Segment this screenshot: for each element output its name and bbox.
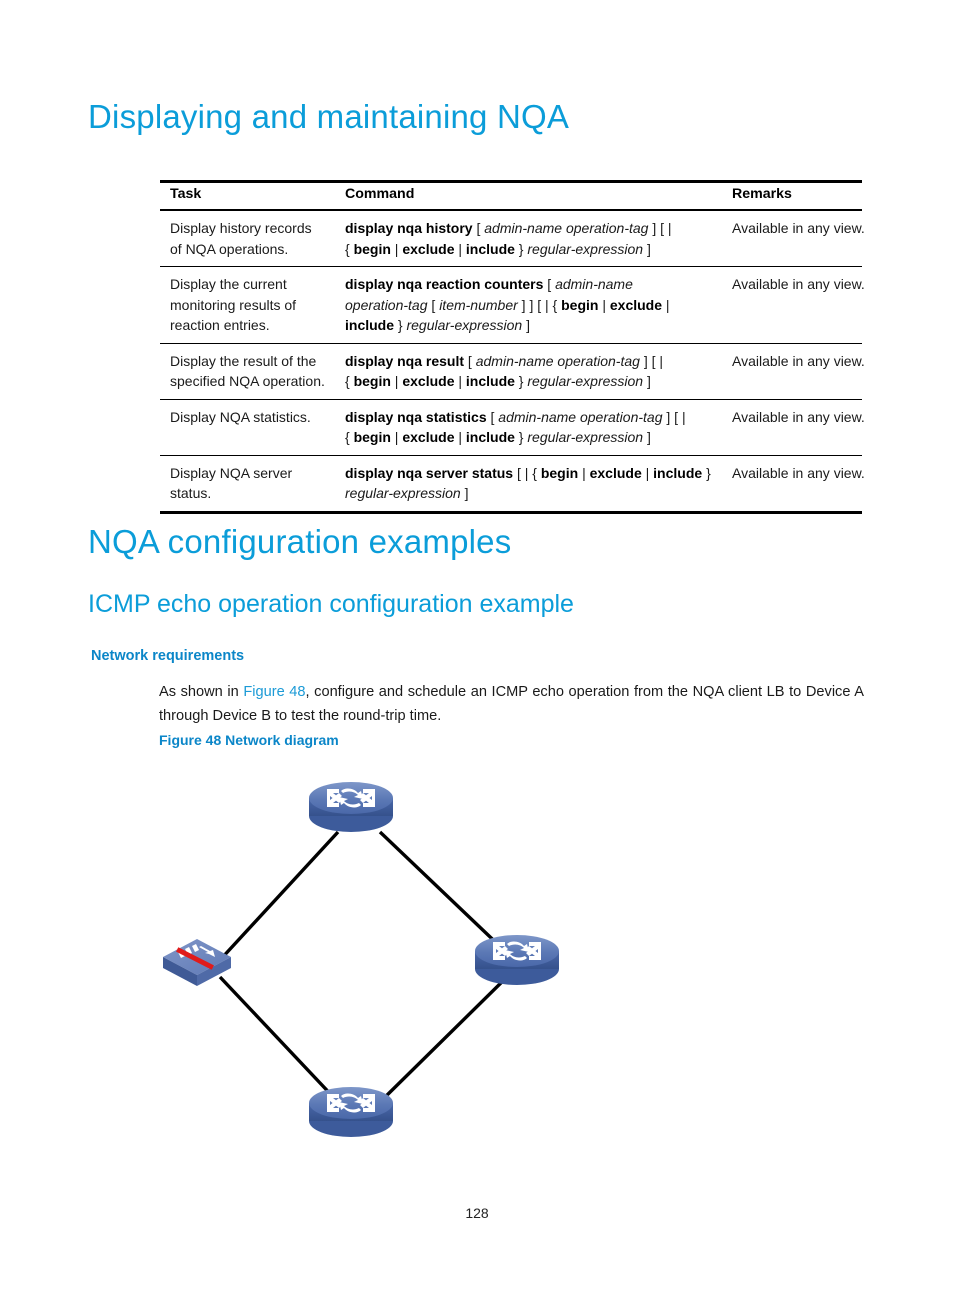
page-number: 128: [0, 1205, 954, 1221]
cell-task: Display NQA server status.: [160, 455, 335, 512]
cell-command: display nqa result [ admin-name operatio…: [335, 343, 722, 399]
cell-command: display nqa server status [ | { begin | …: [335, 455, 722, 512]
link-left-top: [220, 832, 338, 960]
router-icon-right: [475, 935, 559, 985]
link-bottom-left: [220, 977, 338, 1102]
cell-task: Display the result of the specified NQA …: [160, 343, 335, 399]
document-page: Displaying and maintaining NQA Task Comm…: [0, 0, 954, 1296]
table-row: Display history records of NQA operation…: [160, 210, 862, 267]
diagram-links: [220, 832, 508, 1102]
cell-remarks: Available in any view.: [722, 343, 862, 399]
cell-remarks: Available in any view.: [722, 455, 862, 512]
page-title: Displaying and maintaining NQA: [88, 98, 569, 136]
table-body: Display history records of NQA operation…: [160, 210, 862, 512]
section-heading-icmp-echo-example: ICMP echo operation configuration exampl…: [88, 590, 574, 619]
table-row: Display NQA server status.display nqa se…: [160, 455, 862, 512]
subsection-heading-network-requirements: Network requirements: [91, 648, 244, 664]
section-heading-nqa-configuration-examples: NQA configuration examples: [88, 523, 511, 561]
cell-remarks: Available in any view.: [722, 399, 862, 455]
table-row: Display NQA statistics.display nqa stati…: [160, 399, 862, 455]
link-right-bottom: [380, 976, 508, 1102]
link-top-right: [380, 832, 508, 954]
cell-remarks: Available in any view.: [722, 267, 862, 344]
network-diagram: [140, 762, 610, 1152]
column-header-command: Command: [335, 182, 722, 211]
router-icon-top: [309, 782, 393, 832]
cell-command: display nqa history [ admin-name operati…: [335, 210, 722, 267]
nqa-display-commands-table: Task Command Remarks Display history rec…: [160, 180, 862, 514]
figure-caption: Figure 48 Network diagram: [159, 732, 339, 748]
cell-command: display nqa reaction counters [ admin-na…: [335, 267, 722, 344]
cell-task: Display history records of NQA operation…: [160, 210, 335, 267]
column-header-task: Task: [160, 182, 335, 211]
cell-remarks: Available in any view.: [722, 210, 862, 267]
table-header-row: Task Command Remarks: [160, 182, 862, 211]
column-header-remarks: Remarks: [722, 182, 862, 211]
cell-task: Display the current monitoring results o…: [160, 267, 335, 344]
cell-command: display nqa statistics [ admin-name oper…: [335, 399, 722, 455]
router-icon-bottom: [309, 1087, 393, 1137]
network-requirements-paragraph: As shown in Figure 48, configure and sch…: [159, 680, 864, 728]
table-row: Display the current monitoring results o…: [160, 267, 862, 344]
table-row: Display the result of the specified NQA …: [160, 343, 862, 399]
cell-task: Display NQA statistics.: [160, 399, 335, 455]
